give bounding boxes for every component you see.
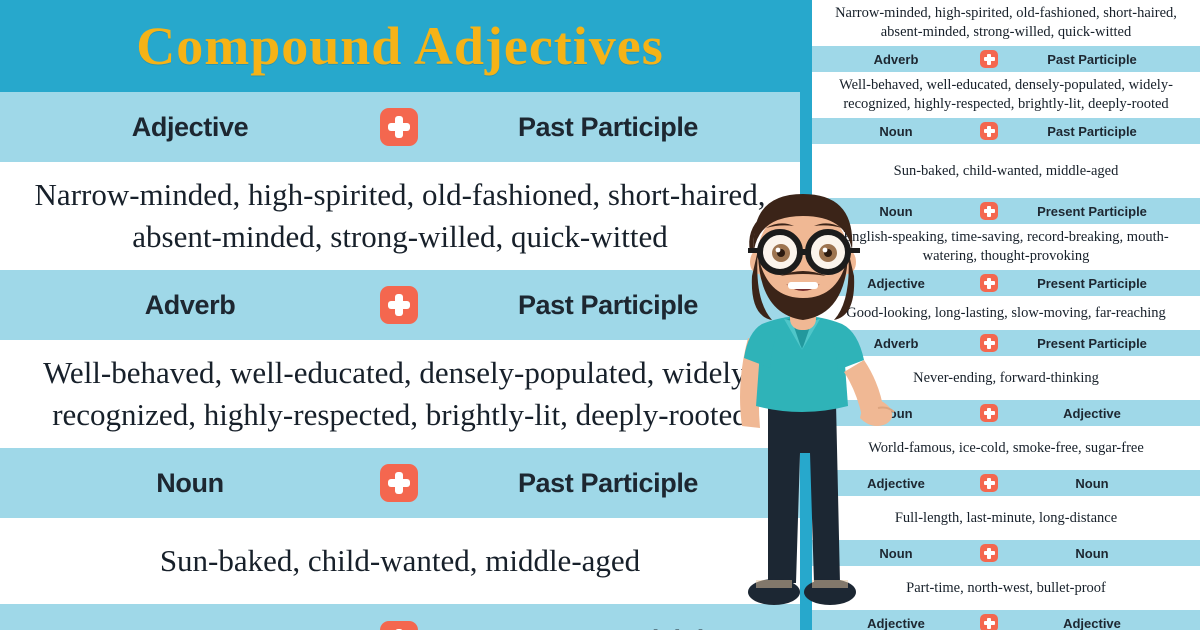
- examples-text: Full-length, last-minute, long-distance: [895, 509, 1117, 528]
- side-row-header: Adjective Present Participle: [812, 270, 1200, 296]
- pattern-left-part: Noun: [812, 406, 980, 421]
- main-row-header: Adverb Past Participle: [0, 270, 800, 340]
- pattern-right-part: Past Participle: [998, 124, 1186, 139]
- plus-icon: [980, 404, 998, 422]
- main-row-header: Adjective Past Participle: [0, 92, 800, 162]
- main-row-header: Noun Past Participle: [0, 448, 800, 518]
- examples-text: Sun-baked, child-wanted, middle-aged: [894, 162, 1119, 181]
- pattern-right-part: Noun: [998, 546, 1186, 561]
- pattern-left-part: Noun: [0, 625, 380, 630]
- side-row-header: Adverb Present Participle: [812, 330, 1200, 356]
- pattern-right-part: Past Participle: [418, 468, 798, 499]
- side-row-examples: Sun-baked, child-wanted, middle-aged: [812, 144, 1200, 198]
- examples-text: Never-ending, forward-thinking: [913, 369, 1099, 388]
- examples-text: Narrow-minded, high-spirited, old-fashio…: [28, 174, 772, 258]
- pattern-left-part: Adjective: [812, 476, 980, 491]
- panel-divider: [800, 0, 812, 630]
- side-row-header: Noun Noun: [812, 540, 1200, 566]
- main-row-examples: Narrow-minded, high-spirited, old-fashio…: [0, 162, 800, 270]
- side-row-header: Noun Past Participle: [812, 118, 1200, 144]
- plus-icon: [980, 274, 998, 292]
- main-row-header: Noun Present Participle: [0, 604, 800, 630]
- examples-text: Good-looking, long-lasting, slow-moving,…: [846, 304, 1165, 323]
- examples-text: Well-behaved, well-educated, densely-pop…: [28, 352, 772, 436]
- side-row-examples: English-speaking, time-saving, record-br…: [812, 224, 1200, 270]
- pattern-right-part: Noun: [998, 476, 1186, 491]
- side-row-examples: World-famous, ice-cold, smoke-free, suga…: [812, 426, 1200, 470]
- main-panel: Compound Adjectives Adjective Past Parti…: [0, 0, 800, 630]
- side-panel: Narrow-minded, high-spirited, old-fashio…: [812, 0, 1200, 630]
- pattern-right-part: Past Participle: [418, 290, 798, 321]
- side-row-examples: Part-time, north-west, bullet-proof: [812, 566, 1200, 610]
- pattern-left-part: Noun: [812, 124, 980, 139]
- plus-icon: [380, 108, 418, 146]
- pattern-left-part: Adverb: [0, 290, 380, 321]
- plus-icon: [980, 474, 998, 492]
- pattern-left-part: Adverb: [812, 52, 980, 67]
- side-row-header: Adverb Past Participle: [812, 46, 1200, 72]
- pattern-right-part: Present Participle: [418, 625, 798, 630]
- side-row-examples: Narrow-minded, high-spirited, old-fashio…: [812, 0, 1200, 46]
- side-row-header: Noun Present Participle: [812, 198, 1200, 224]
- plus-icon: [980, 334, 998, 352]
- side-row-header: Noun Adjective: [812, 400, 1200, 426]
- pattern-left-part: Adverb: [812, 336, 980, 351]
- side-row-examples: Well-behaved, well-educated, densely-pop…: [812, 72, 1200, 118]
- side-row-header: Adjective Noun: [812, 470, 1200, 496]
- page-title: Compound Adjectives: [136, 15, 664, 77]
- pattern-left-part: Adjective: [0, 112, 380, 143]
- examples-text: Narrow-minded, high-spirited, old-fashio…: [822, 4, 1190, 42]
- pattern-right-part: Past Participle: [998, 52, 1186, 67]
- side-row-examples: Full-length, last-minute, long-distance: [812, 496, 1200, 540]
- infographic-canvas: Compound Adjectives Adjective Past Parti…: [0, 0, 1200, 630]
- pattern-right-part: Present Participle: [998, 276, 1186, 291]
- pattern-right-part: Past Participle: [418, 112, 798, 143]
- title-bar: Compound Adjectives: [0, 0, 800, 92]
- pattern-left-part: Adjective: [812, 616, 980, 630]
- pattern-right-part: Present Participle: [998, 336, 1186, 351]
- side-row-examples: Never-ending, forward-thinking: [812, 356, 1200, 400]
- plus-icon: [380, 464, 418, 502]
- side-row-header: Adjective Adjective: [812, 610, 1200, 630]
- pattern-left-part: Noun: [812, 204, 980, 219]
- examples-text: Part-time, north-west, bullet-proof: [906, 579, 1106, 598]
- plus-icon: [980, 122, 998, 140]
- examples-text: Sun-baked, child-wanted, middle-aged: [160, 540, 640, 582]
- plus-icon: [980, 544, 998, 562]
- main-row-examples: Well-behaved, well-educated, densely-pop…: [0, 340, 800, 448]
- plus-icon: [380, 286, 418, 324]
- pattern-left-part: Adjective: [812, 276, 980, 291]
- plus-icon: [980, 50, 998, 68]
- examples-text: World-famous, ice-cold, smoke-free, suga…: [868, 439, 1144, 458]
- pattern-right-part: Adjective: [998, 616, 1186, 630]
- pattern-right-part: Adjective: [998, 406, 1186, 421]
- side-row-examples: Good-looking, long-lasting, slow-moving,…: [812, 296, 1200, 330]
- pattern-right-part: Present Participle: [998, 204, 1186, 219]
- plus-icon: [980, 614, 998, 630]
- main-row-examples: Sun-baked, child-wanted, middle-aged: [0, 518, 800, 604]
- examples-text: Well-behaved, well-educated, densely-pop…: [822, 76, 1190, 114]
- plus-icon: [980, 202, 998, 220]
- examples-text: English-speaking, time-saving, record-br…: [822, 228, 1190, 266]
- pattern-left-part: Noun: [0, 468, 380, 499]
- pattern-left-part: Noun: [812, 546, 980, 561]
- plus-icon: [380, 621, 418, 630]
